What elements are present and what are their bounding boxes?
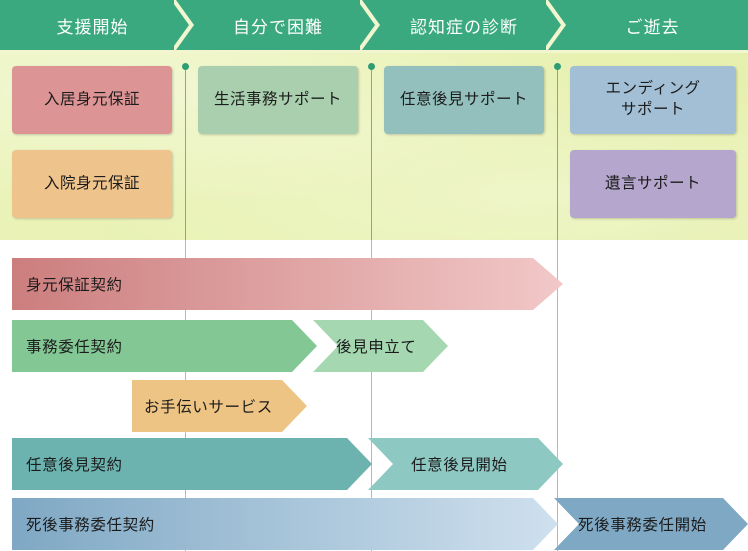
- service-card-ending-support[interactable]: エンディング サポート: [570, 66, 736, 134]
- phase-text: 支援開始: [57, 13, 129, 38]
- service-card-nini-koken-support[interactable]: 任意後見サポート: [384, 66, 544, 134]
- phase-text: 認知症の診断: [410, 13, 518, 38]
- contract-row-shigo-jimu: 死後事務委任契約 死後事務委任開始: [0, 498, 748, 550]
- service-card-label: エンディング サポート: [606, 79, 701, 121]
- phase-guide-line-2: [371, 66, 372, 240]
- contract-bar-shigo-jimu-keiyaku[interactable]: [12, 498, 558, 550]
- contract-bar-nini-koken-kaishi[interactable]: [368, 438, 563, 490]
- service-card-seikatsu-jimu[interactable]: 生活事務サポート: [198, 66, 358, 134]
- contract-row-nini-koken: 任意後見契約 任意後見開始: [0, 438, 748, 490]
- contract-bar-koken-moshitate[interactable]: [313, 320, 448, 372]
- service-card-yuigon-support[interactable]: 遺言サポート: [570, 150, 736, 218]
- phase-label-4: ご逝去: [557, 0, 748, 50]
- phase-guide-line-1: [185, 66, 186, 240]
- contract-bar-otetsudai[interactable]: [132, 380, 307, 432]
- contract-row-mimoto-hosho: 身元保証契約: [0, 258, 748, 310]
- contract-bar-mimoto-hosho[interactable]: [12, 258, 563, 310]
- phase-guide-dot-2: [368, 63, 375, 70]
- service-card-label: 遺言サポート: [605, 174, 701, 195]
- phase-text: ご逝去: [626, 13, 680, 38]
- service-card-label: 生活事務サポート: [214, 90, 342, 111]
- phase-guide-dot-3: [554, 63, 561, 70]
- phase-guide-line-3: [557, 66, 558, 240]
- service-card-nyukyo-mimoto[interactable]: 入居身元保証: [12, 66, 172, 134]
- timeline-diagram: 支援開始 自分で困難 認知症の診断 ご逝去 入居身元保証: [0, 0, 748, 551]
- phase-label-2: 自分で困難: [185, 0, 371, 50]
- phase-guide-dot-1: [182, 63, 189, 70]
- phase-label-3: 認知症の診断: [371, 0, 557, 50]
- contract-bar-jimu-inin[interactable]: [12, 320, 317, 372]
- service-card-nyuin-mimoto[interactable]: 入院身元保証: [12, 150, 172, 218]
- service-card-label: 任意後見サポート: [400, 90, 528, 111]
- service-card-label: 入院身元保証: [44, 174, 140, 195]
- contract-row-jimu-inin: 事務委任契約 後見申立て: [0, 320, 748, 372]
- service-card-label: 入居身元保証: [44, 90, 140, 111]
- contract-bar-shigo-jimu-kaishi[interactable]: [554, 498, 748, 550]
- phase-text: 自分で困難: [233, 13, 323, 38]
- contract-bar-nini-koken-keiyaku[interactable]: [12, 438, 372, 490]
- phase-label-1: 支援開始: [0, 0, 185, 50]
- contract-row-otetsudai: お手伝いサービス: [0, 380, 748, 432]
